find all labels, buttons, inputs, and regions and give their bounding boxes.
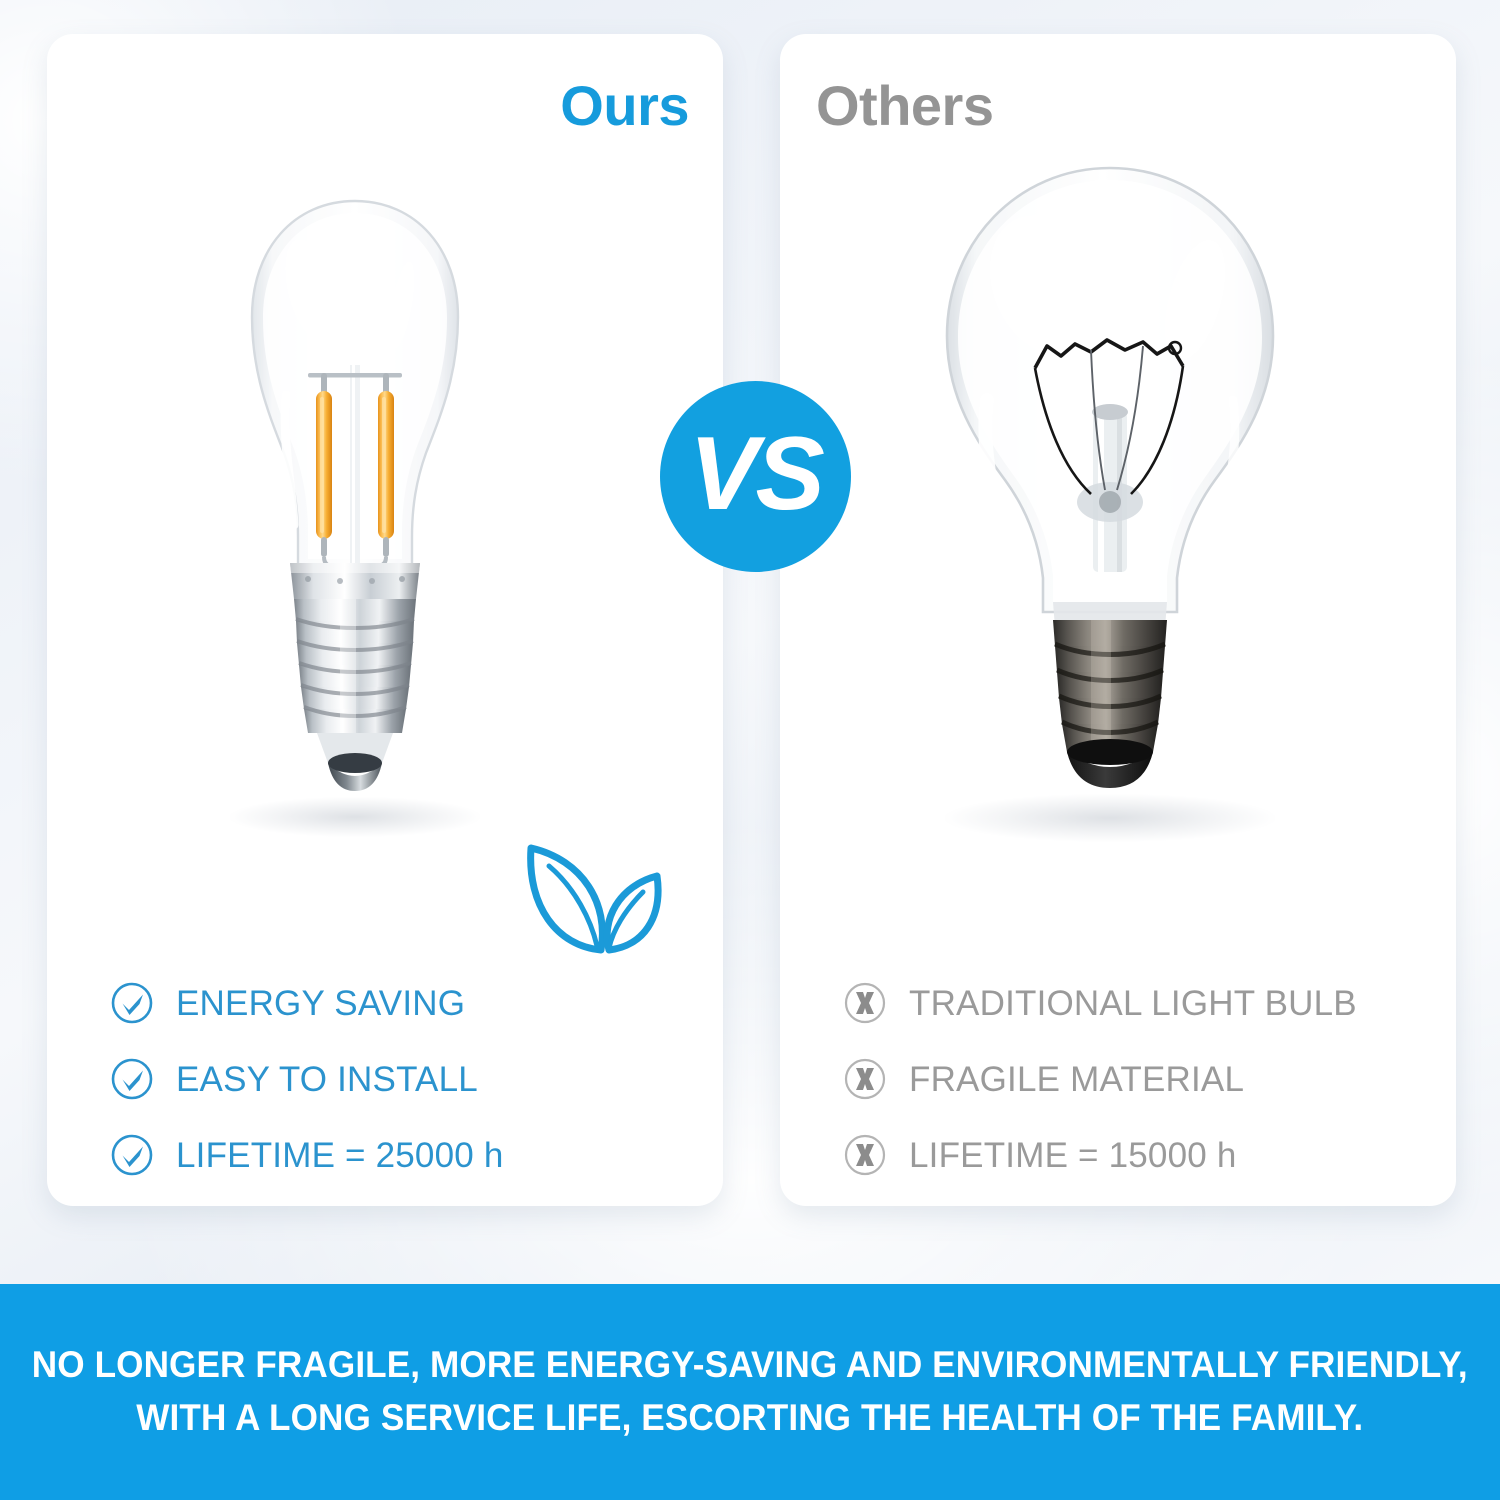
feature-label: ENERGY SAVING bbox=[176, 986, 465, 1021]
feature-label: EASY TO INSTALL bbox=[176, 1062, 478, 1097]
feature-row-easy-install: EASY TO INSTALL bbox=[110, 1041, 504, 1117]
feature-row-lifetime: LIFETIME = 15000 h bbox=[843, 1117, 1357, 1193]
check-circle-icon bbox=[110, 981, 154, 1025]
vs-badge-icon: VS bbox=[660, 381, 851, 572]
feature-row-fragile-material: FRAGILE MATERIAL bbox=[843, 1041, 1357, 1117]
vs-badge-label: VS bbox=[689, 422, 822, 526]
feature-label: FRAGILE MATERIAL bbox=[909, 1062, 1244, 1097]
leaf-icon bbox=[513, 826, 673, 966]
feature-label: LIFETIME = 15000 h bbox=[909, 1138, 1237, 1173]
led-filament-bulb bbox=[190, 185, 520, 845]
x-circle-icon bbox=[843, 1057, 887, 1101]
check-circle-icon bbox=[110, 1057, 154, 1101]
banner-line-1: NO LONGER FRAGILE, MORE ENERGY-SAVING AN… bbox=[32, 1339, 1468, 1392]
x-circle-icon bbox=[843, 981, 887, 1025]
led-bulb-icon bbox=[190, 185, 520, 845]
feature-list-others: TRADITIONAL LIGHT BULB FRAGILE MATERIAL … bbox=[843, 965, 1357, 1193]
incandescent-bulb bbox=[895, 150, 1325, 850]
incandescent-bulb-icon bbox=[895, 150, 1325, 850]
page-background: Ours bbox=[0, 0, 1500, 1500]
incandescent-bulb-shadow bbox=[945, 794, 1275, 842]
feature-label: TRADITIONAL LIGHT BULB bbox=[909, 986, 1357, 1021]
feature-row-lifetime: LIFETIME = 25000 h bbox=[110, 1117, 504, 1193]
banner-line-2: WITH A LONG SERVICE LIFE, ESCORTING THE … bbox=[137, 1392, 1364, 1445]
feature-row-traditional-bulb: TRADITIONAL LIGHT BULB bbox=[843, 965, 1357, 1041]
x-circle-icon bbox=[843, 1133, 887, 1177]
check-circle-icon bbox=[110, 1133, 154, 1177]
page-title-others: Others bbox=[816, 78, 994, 134]
feature-list-ours: ENERGY SAVING EASY TO INSTALL LIFETIME =… bbox=[110, 965, 504, 1193]
page-title-ours: Ours bbox=[560, 78, 689, 134]
bottom-banner: NO LONGER FRAGILE, MORE ENERGY-SAVING AN… bbox=[0, 1284, 1500, 1500]
feature-row-energy-saving: ENERGY SAVING bbox=[110, 965, 504, 1041]
feature-label: LIFETIME = 25000 h bbox=[176, 1138, 504, 1173]
led-bulb-shadow bbox=[230, 797, 480, 837]
